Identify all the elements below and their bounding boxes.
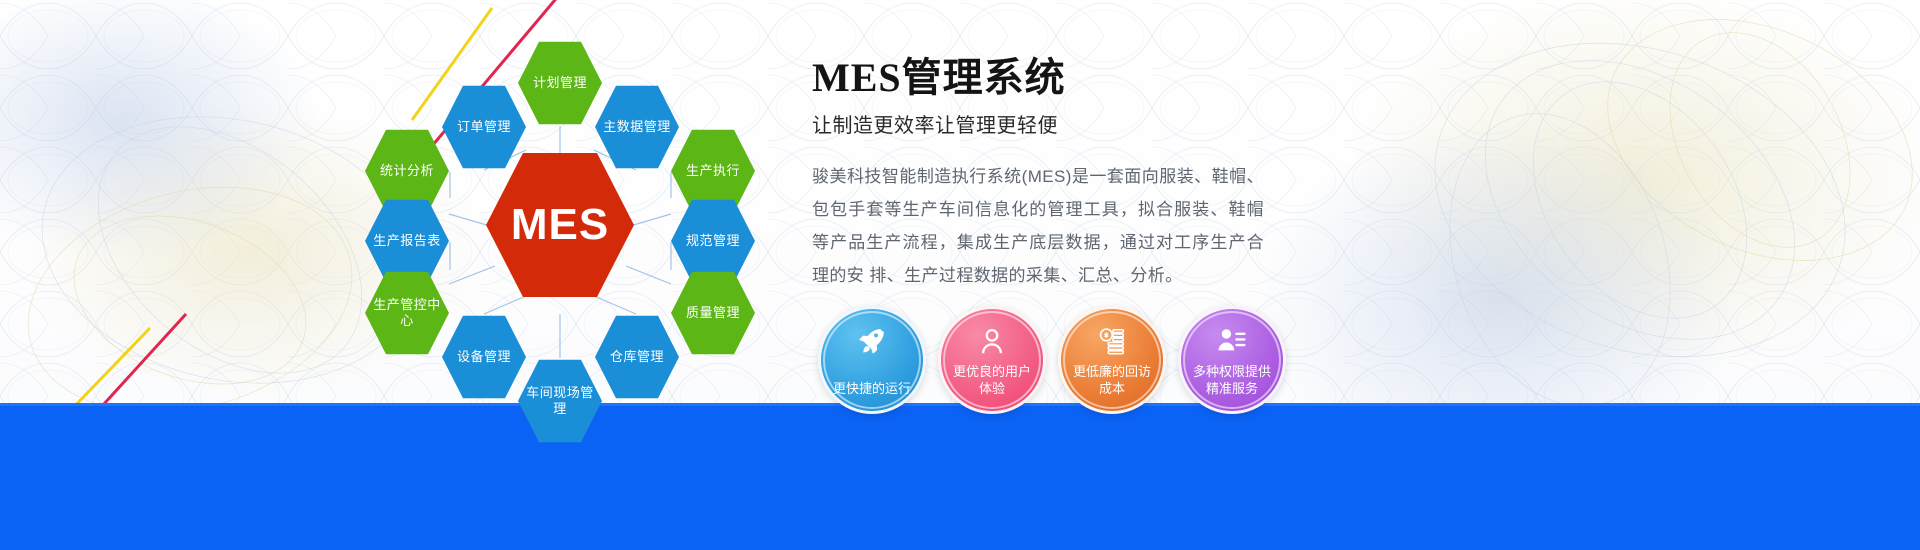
user-list-icon [1215, 324, 1249, 358]
hex-node-label: 设备管理 [453, 349, 515, 365]
badge-permission[interactable]: 多种权限提供精准服务 [1178, 306, 1286, 414]
hex-node-label: 质量管理 [682, 305, 744, 321]
badge-label: 多种权限提供精准服务 [1181, 363, 1283, 398]
hex-node-label: 统计分析 [376, 163, 438, 179]
mes-banner: 计划管理订单管理主数据管理统计分析生产执行生产报告表规范管理生产管控中心质量管理… [0, 0, 1920, 550]
page-subtitle: 让制造更效率让管理更轻便 [812, 109, 1292, 138]
badge-cost[interactable]: 更低廉的回访成本 [1058, 306, 1166, 414]
badge-label: 更低廉的回访成本 [1061, 363, 1163, 398]
badge-label: 更快捷的运行 [825, 380, 919, 398]
user-icon [975, 324, 1009, 358]
hex-node-label: 生产报告表 [369, 233, 445, 249]
hex-node-label: 规范管理 [682, 233, 744, 249]
hex-node-label: 车间现场管理 [518, 385, 602, 417]
mes-hexagon-diagram: 计划管理订单管理主数据管理统计分析生产执行生产报告表规范管理生产管控中心质量管理… [330, 14, 790, 434]
hex-node-label: 生产执行 [682, 163, 744, 179]
badge-label: 更优良的用户体验 [941, 363, 1043, 398]
badge-speed[interactable]: 更快捷的运行 [818, 306, 926, 414]
hex-node-label: 仓库管理 [606, 349, 668, 365]
description-paragraph: 骏美科技智能制造执行系统(MES)是一套面向服装、鞋帽、包包手套等生产车间信息化… [812, 160, 1264, 293]
feature-badge-list: 更快捷的运行 更优良的用户体验 [818, 306, 1286, 414]
hex-center-label: MES [507, 198, 613, 252]
coins-icon [1095, 324, 1129, 358]
hex-node-label: 计划管理 [529, 75, 591, 91]
badge-experience[interactable]: 更优良的用户体验 [938, 306, 1046, 414]
rocket-icon [855, 324, 889, 358]
hex-node-label: 订单管理 [453, 119, 515, 135]
page-title: MES管理系统 [812, 56, 1292, 101]
copy-block: MES管理系统 让制造更效率让管理更轻便 骏美科技智能制造执行系统(MES)是一… [812, 56, 1292, 292]
hex-node-label: 生产管控中心 [365, 297, 449, 329]
bottom-blue-band [0, 406, 1920, 550]
hex-node-label: 主数据管理 [599, 119, 675, 135]
